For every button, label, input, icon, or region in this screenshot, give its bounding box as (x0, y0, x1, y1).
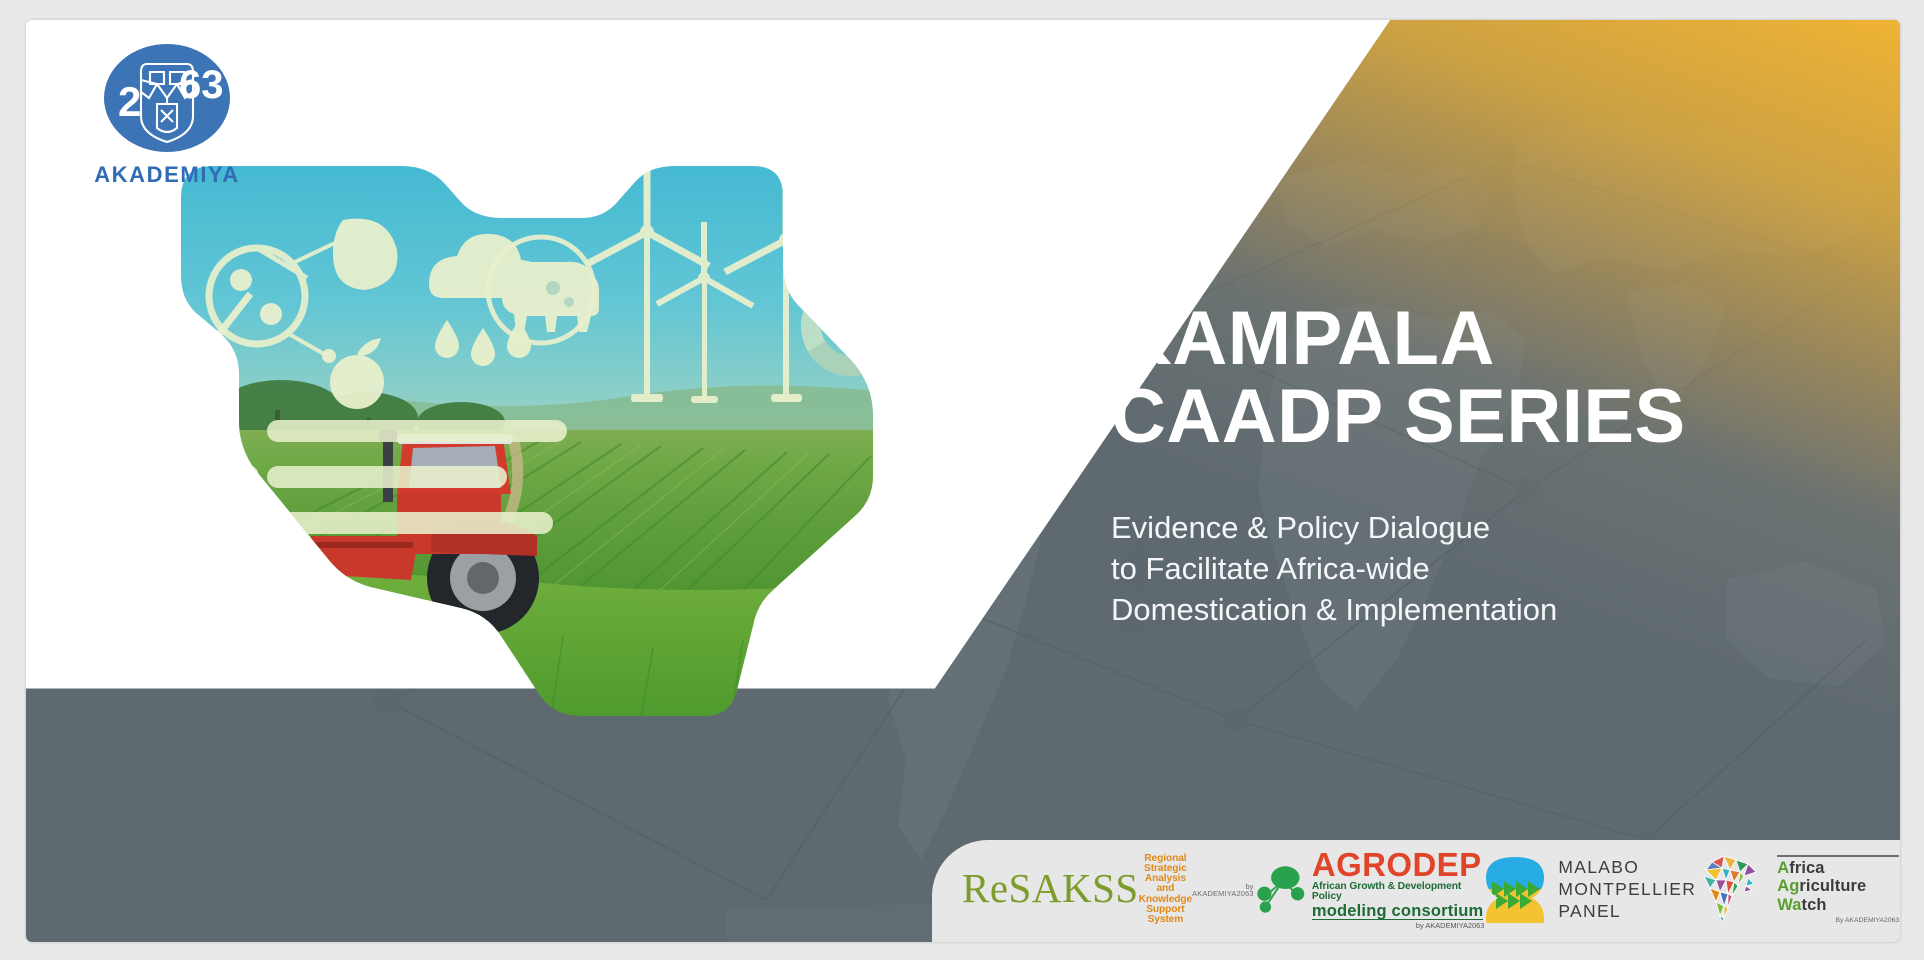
svg-text:CO2: CO2 (210, 474, 237, 489)
malabo-line-1: MALABO (1558, 856, 1696, 878)
agrodep-wordmark: AGRODEP (1312, 848, 1485, 882)
title-line-2: CAADP SERIES (1111, 378, 1851, 456)
subtitle-line-2: to Facilitate Africa-wide (1111, 548, 1851, 589)
logo-numeral-right: 63 (179, 63, 224, 107)
aaw-line-3: Watch (1777, 896, 1899, 914)
subtitle-line-1: Evidence & Policy Dialogue (1111, 507, 1851, 548)
agrodep-subtitle-2: modeling consortium (1312, 903, 1484, 921)
banner-card: 75 CO2 (26, 20, 1900, 942)
aaw-line-1: Africa (1777, 859, 1899, 877)
malabo-montpellier-panel-logo[interactable]: MALABO MONTPELLIER PANEL (1484, 855, 1696, 923)
partner-logo-bar: ReSAKSS Regional Strategic Analysis and … (932, 840, 1900, 942)
resakss-wordmark: ReSAKSS (962, 868, 1139, 909)
donut-chart-icon: 75 (811, 286, 892, 366)
page-title: KAMPALA CAADP SERIES (1111, 300, 1851, 455)
africa-mosaic-icon (1696, 854, 1770, 924)
logo-wordmark: AKADEMIYA (78, 162, 256, 188)
aaw-attribution: By AKADEMIYA2063 (1777, 917, 1899, 925)
agrodep-node-icon (1254, 863, 1307, 915)
agrodep-logo[interactable]: AGRODEP African Growth & Development Pol… (1254, 848, 1485, 930)
hero-text-column: KAMPALA CAADP SERIES Evidence & Policy D… (1111, 300, 1851, 631)
agrodep-attribution: by AKADEMIYA2063 (1312, 922, 1485, 930)
malabo-line-3: PANEL (1558, 900, 1696, 922)
donut-value-label: 75 (838, 313, 865, 340)
subtitle-line-3: Domestication & Implementation (1111, 589, 1851, 630)
agrodep-subtitle-1: African Growth & Development Policy (1312, 882, 1485, 903)
resakss-attribution: by AKADEMIYA2063 (1192, 883, 1254, 898)
page-subtitle: Evidence & Policy Dialogue to Facilitate… (1111, 507, 1851, 631)
aaw-line-2: Agriculture (1777, 877, 1899, 895)
akademiya-logo-mark: 2 63 (101, 42, 233, 160)
aaw-rule-top (1777, 855, 1899, 856)
malabo-panel-mark (1484, 855, 1546, 923)
malabo-line-2: MONTPELLIER (1558, 878, 1696, 900)
banner-root: 75 CO2 (0, 0, 1924, 960)
logo-numeral-left: 2 (118, 78, 141, 125)
akademiya2063-logo[interactable]: 2 63 AKADEMIYA (78, 42, 256, 194)
title-line-1: KAMPALA (1117, 300, 1851, 378)
africa-shaped-photo: 75 CO2 (161, 138, 901, 718)
resakss-tagline: Regional Strategic Analysis and Knowledg… (1139, 854, 1192, 925)
resakss-logo[interactable]: ReSAKSS Regional Strategic Analysis and … (962, 853, 1254, 925)
africa-agriculture-watch-logo[interactable]: Africa Agriculture Watch By AKADEMIYA206… (1696, 853, 1899, 924)
